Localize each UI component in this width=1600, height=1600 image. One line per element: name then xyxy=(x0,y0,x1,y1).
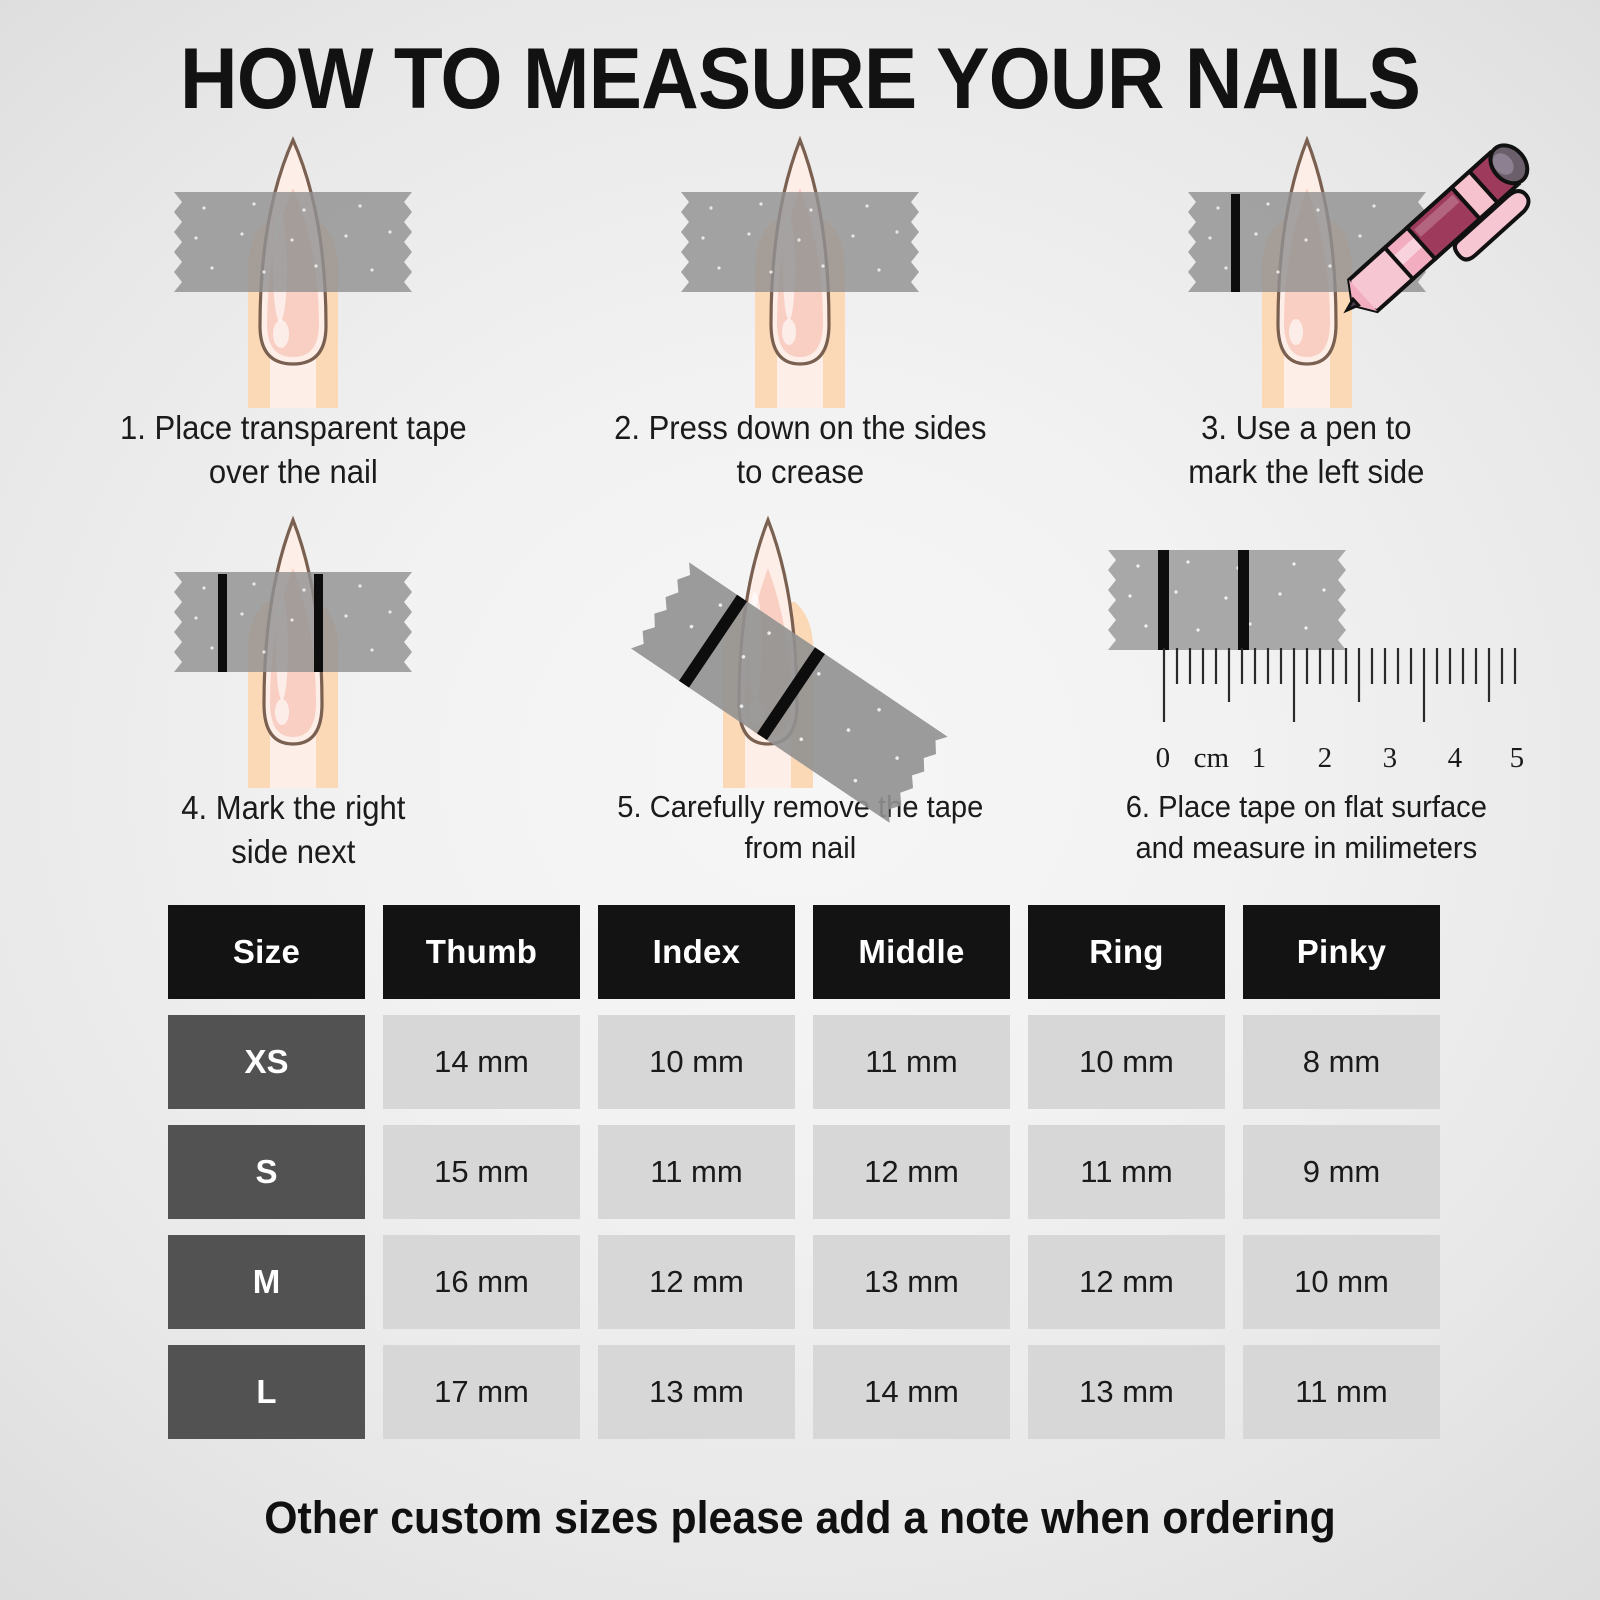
page-title: HOW TO MEASURE YOUR NAILS xyxy=(56,36,1544,122)
step-3-illustration xyxy=(1053,118,1560,408)
table-cell-s-ring: 11 mm xyxy=(1028,1125,1225,1219)
left-mark-line xyxy=(218,574,227,672)
ruler-measurement-group: 0 cm 1 2 3 4 5 xyxy=(1092,550,1522,780)
table-cell-m-thumb: 16 mm xyxy=(383,1235,580,1329)
step-6: 0 cm 1 2 3 4 5 6. Place tape on flat sur… xyxy=(1053,498,1560,878)
step-1-caption: 1. Place transparent tape over the nail xyxy=(55,406,531,494)
table-header-ring: Ring xyxy=(1028,905,1225,999)
table-cell-xs-ring: 10 mm xyxy=(1028,1015,1225,1109)
table-cell-s-middle: 12 mm xyxy=(813,1125,1010,1219)
step-5: 5. Carefully remove the tape from nail xyxy=(547,498,1054,878)
size-chart-table: Size Thumb Index Middle Ring Pinky XS 14… xyxy=(168,905,1440,1439)
tape-strip-icon xyxy=(671,192,929,292)
table-cell-xs-middle: 11 mm xyxy=(813,1015,1010,1109)
table-cell-l-index: 13 mm xyxy=(598,1345,795,1439)
table-cell-s-pinky: 9 mm xyxy=(1243,1125,1440,1219)
step-4-illustration xyxy=(40,498,547,788)
right-mark-line xyxy=(314,574,323,672)
step-1-caption-line1: 1. Place transparent tape xyxy=(55,406,531,450)
table-cell-l-thumb: 17 mm xyxy=(383,1345,580,1439)
tape-strip-icon xyxy=(1098,550,1356,650)
table-header-size: Size xyxy=(168,905,365,999)
table-cell-m-pinky: 10 mm xyxy=(1243,1235,1440,1329)
step-1: 1. Place transparent tape over the nail xyxy=(40,118,547,498)
tape-strip-icon xyxy=(164,572,422,672)
table-cell-l-ring: 13 mm xyxy=(1028,1345,1225,1439)
table-row-size-m: M xyxy=(168,1235,365,1329)
table-cell-xs-pinky: 8 mm xyxy=(1243,1015,1440,1109)
step-6-caption-line1: 6. Place tape on flat surface xyxy=(1069,786,1545,827)
ruler-label-0: 0 xyxy=(1156,742,1171,775)
ruler-label-1: 1 xyxy=(1252,742,1267,775)
step-6-caption-line2: and measure in milimeters xyxy=(1069,827,1545,868)
table-header-pinky: Pinky xyxy=(1243,905,1440,999)
step-4-caption-line1: 4. Mark the right xyxy=(55,786,531,830)
left-mark-line xyxy=(1231,194,1240,292)
step-2-caption: 2. Press down on the sides to crease xyxy=(562,406,1038,494)
step-6-illustration: 0 cm 1 2 3 4 5 xyxy=(1053,498,1560,788)
table-cell-l-pinky: 11 mm xyxy=(1243,1345,1440,1439)
tape-strip-icon xyxy=(164,192,422,292)
table-cell-s-index: 11 mm xyxy=(598,1125,795,1219)
step-5-illustration xyxy=(547,498,1054,788)
step-6-caption: 6. Place tape on flat surface and measur… xyxy=(1069,786,1545,868)
table-row-size-l: L xyxy=(168,1345,365,1439)
step-3: 3. Use a pen to mark the left side xyxy=(1053,118,1560,498)
table-cell-m-index: 12 mm xyxy=(598,1235,795,1329)
table-cell-xs-thumb: 14 mm xyxy=(383,1015,580,1109)
step-2-illustration xyxy=(547,118,1054,408)
table-cell-m-ring: 12 mm xyxy=(1028,1235,1225,1329)
step-5-caption-line2: from nail xyxy=(562,827,1038,868)
step-4-caption: 4. Mark the right side next xyxy=(55,786,531,874)
step-1-caption-line2: over the nail xyxy=(55,450,531,494)
ruler-unit-label: cm xyxy=(1194,742,1229,775)
step-2-caption-line2: to crease xyxy=(562,450,1038,494)
table-row-size-s: S xyxy=(168,1125,365,1219)
step-1-illustration xyxy=(40,118,547,408)
step-5-caption-line1: 5. Carefully remove the tape xyxy=(562,786,1038,827)
pen-icon xyxy=(1316,116,1566,316)
table-header-middle: Middle xyxy=(813,905,1010,999)
table-row-size-xs: XS xyxy=(168,1015,365,1109)
step-3-caption-line2: mark the left side xyxy=(1069,450,1545,494)
ruler-tick-labels: 0 cm 1 2 3 4 5 xyxy=(1158,742,1518,776)
ruler-label-2: 2 xyxy=(1318,742,1333,775)
step-3-caption: 3. Use a pen to mark the left side xyxy=(1069,406,1545,494)
ruler-label-3: 3 xyxy=(1383,742,1398,775)
steps-grid: 1. Place transparent tape over the nail xyxy=(40,118,1560,878)
table-header-thumb: Thumb xyxy=(383,905,580,999)
ruler-label-4: 4 xyxy=(1448,742,1463,775)
step-5-caption: 5. Carefully remove the tape from nail xyxy=(562,786,1038,868)
step-3-caption-line1: 3. Use a pen to xyxy=(1069,406,1545,450)
table-cell-xs-index: 10 mm xyxy=(598,1015,795,1109)
table-cell-s-thumb: 15 mm xyxy=(383,1125,580,1219)
table-header-index: Index xyxy=(598,905,795,999)
step-4: 4. Mark the right side next xyxy=(40,498,547,878)
step-2: 2. Press down on the sides to crease xyxy=(547,118,1054,498)
step-2-caption-line1: 2. Press down on the sides xyxy=(562,406,1038,450)
table-cell-l-middle: 14 mm xyxy=(813,1345,1010,1439)
table-cell-m-middle: 13 mm xyxy=(813,1235,1010,1329)
footer-note: Other custom sizes please add a note whe… xyxy=(40,1492,1560,1544)
ruler-label-5: 5 xyxy=(1510,742,1525,775)
step-4-caption-line2: side next xyxy=(55,830,531,874)
